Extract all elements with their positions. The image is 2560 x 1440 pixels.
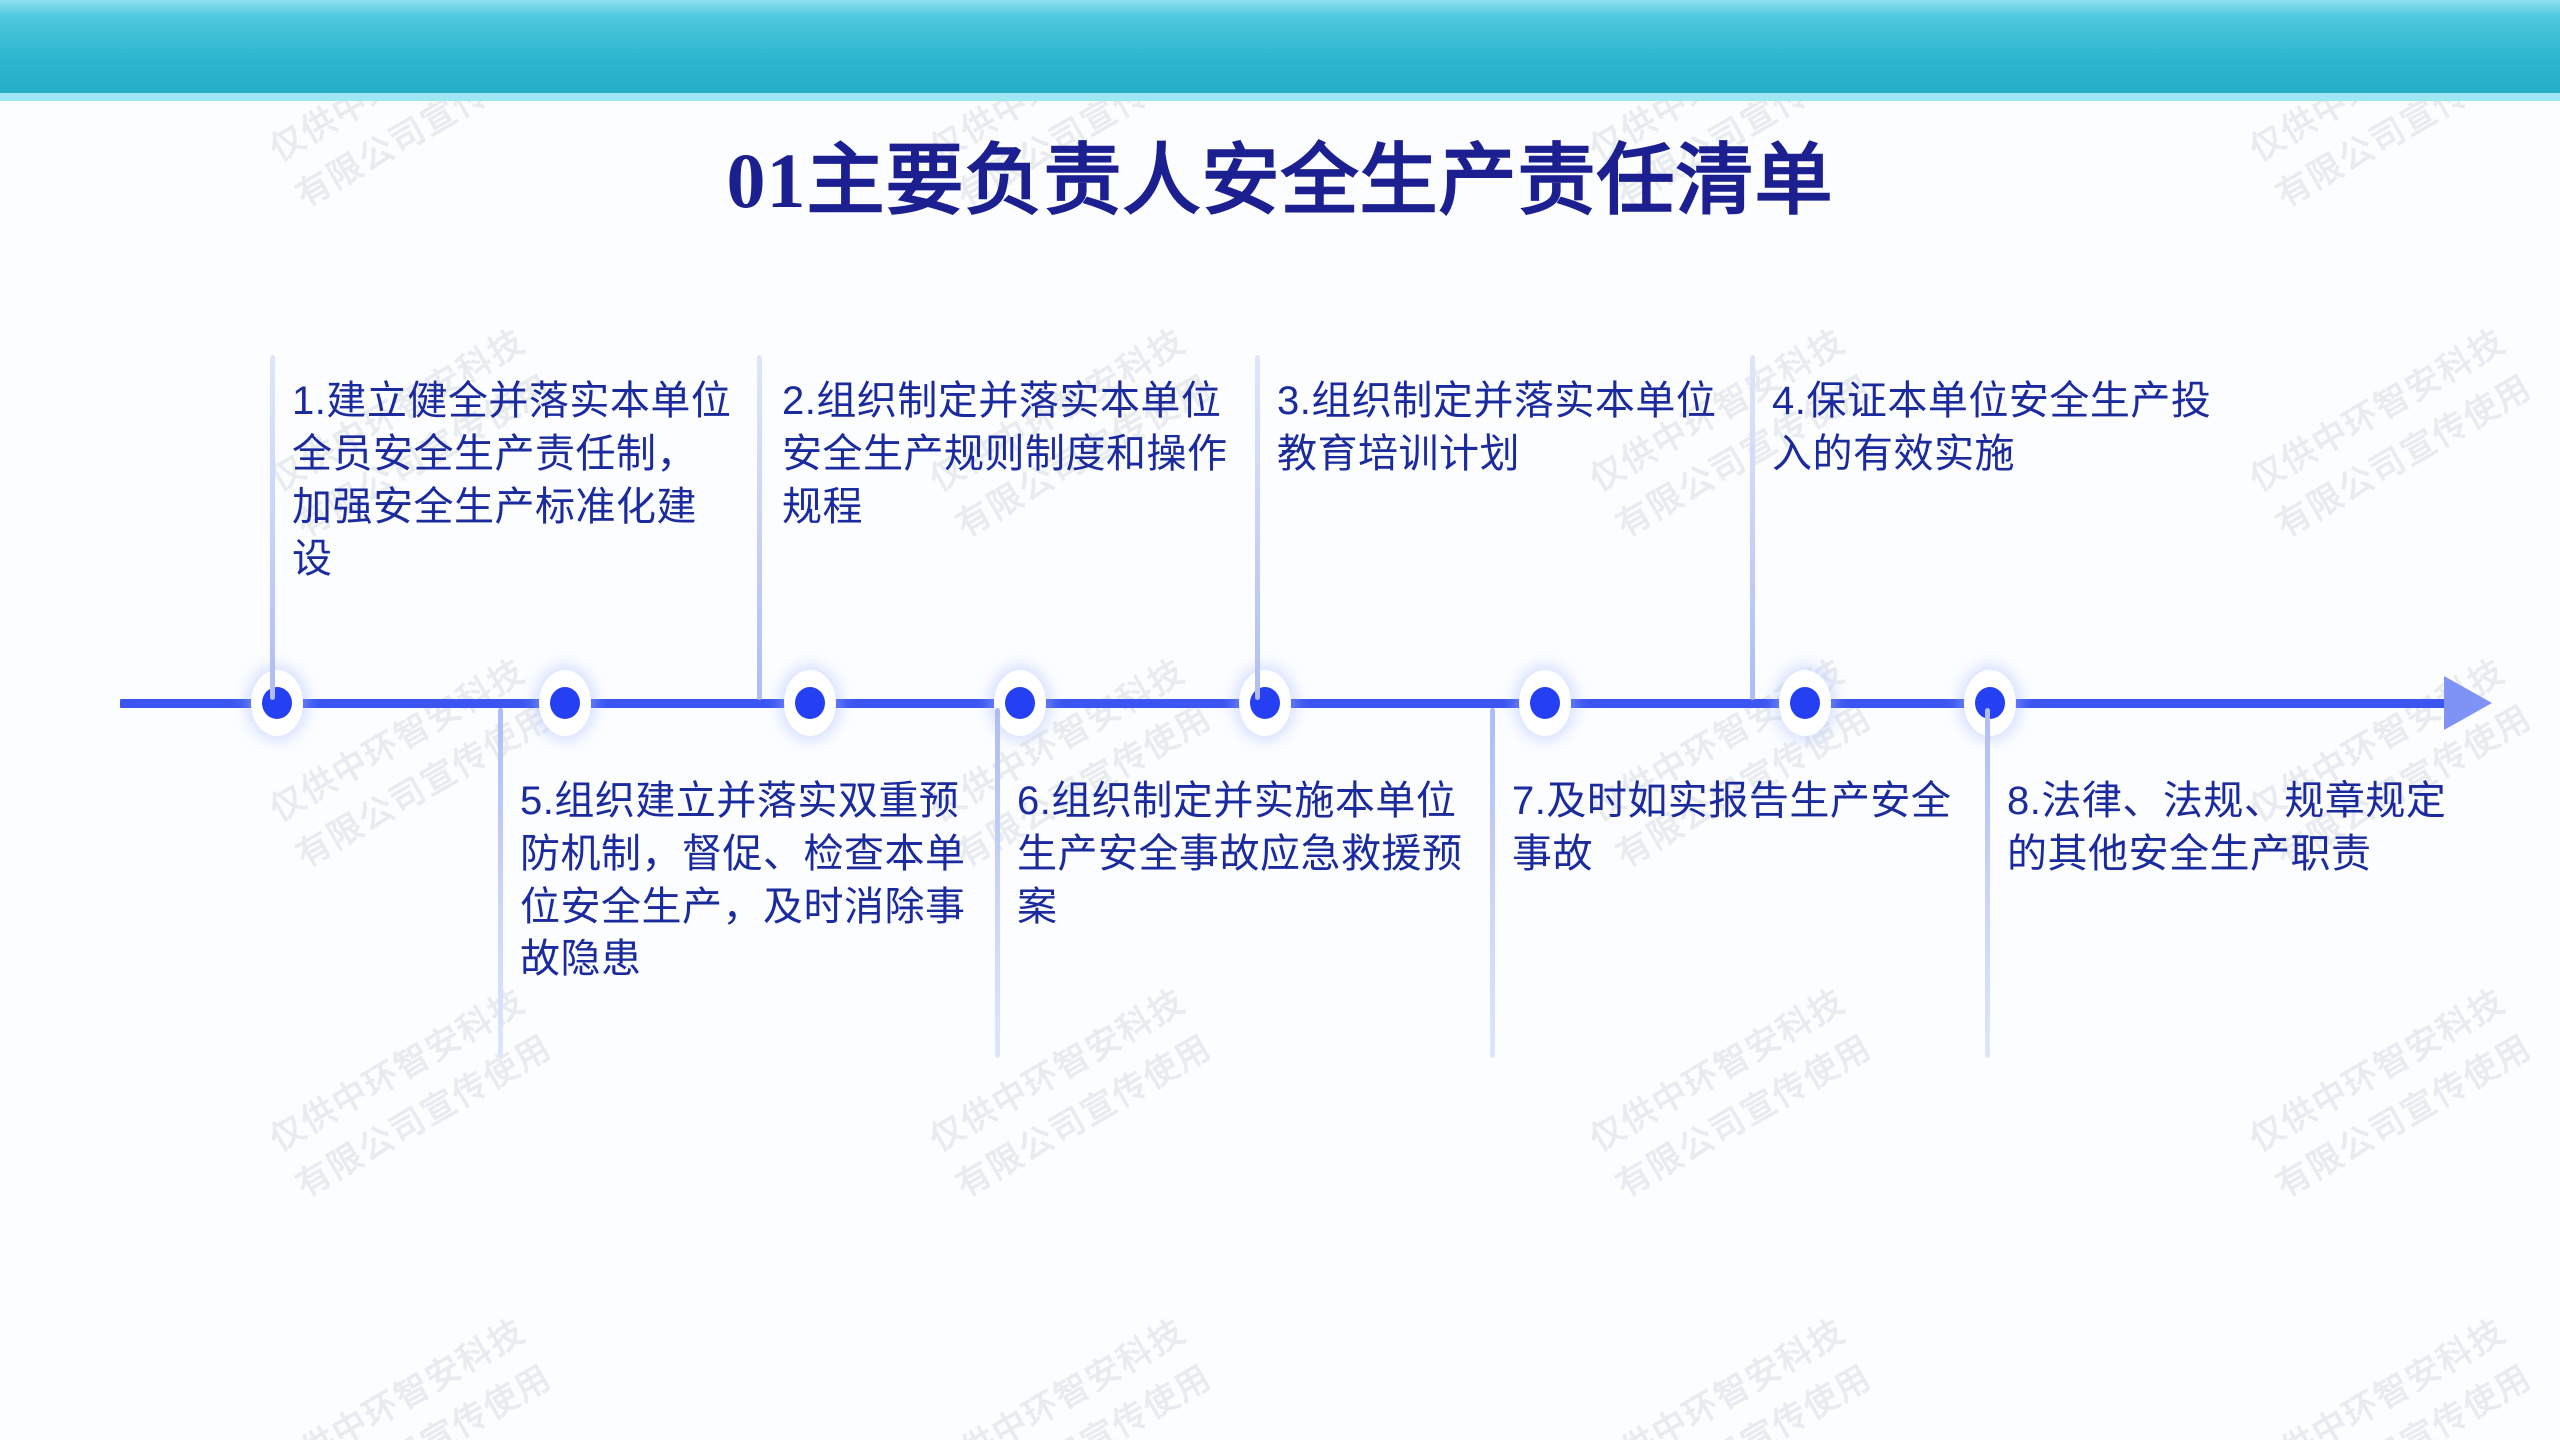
- timeline-item-8-text: 8.法律、法规、规章规定的其他安全生产职责: [2007, 775, 2457, 881]
- timeline-node-2[interactable]: [539, 670, 591, 736]
- timeline-item-7-text: 7.及时如实报告生产安全事故: [1512, 775, 1962, 881]
- timeline-node-7[interactable]: [1779, 670, 1831, 736]
- timeline-node-4[interactable]: [994, 670, 1046, 736]
- timeline-node-1[interactable]: [251, 670, 303, 736]
- divider-item-4: [1750, 355, 1755, 700]
- divider-item-2: [757, 355, 762, 700]
- timeline-node-8[interactable]: [1964, 670, 2016, 736]
- timeline-item-5-text: 5.组织建立并落实双重预防机制，督促、检查本单位安全生产，及时消除事故隐患: [520, 775, 970, 986]
- divider-item-7: [1490, 708, 1495, 1058]
- timeline-node-5[interactable]: [1239, 670, 1291, 736]
- divider-item-5: [498, 708, 503, 1058]
- timeline-diagram: 1.建立健全并落实本单位全员安全生产责任制，加强安全生产标准化建设 2.组织制定…: [0, 0, 2560, 1440]
- divider-item-6: [995, 708, 1000, 1058]
- timeline-node-3[interactable]: [784, 670, 836, 736]
- divider-item-1: [270, 355, 275, 700]
- header-bar: [0, 0, 2560, 93]
- timeline-item-6-text: 6.组织制定并实施本单位生产安全事故应急救援预案: [1017, 775, 1467, 933]
- timeline-arrow-icon: [2444, 676, 2492, 730]
- divider-item-8: [1985, 708, 1990, 1058]
- timeline-node-6[interactable]: [1519, 670, 1571, 736]
- divider-item-3: [1255, 355, 1260, 700]
- timeline-item-3-text: 3.组织制定并落实本单位教育培训计划: [1277, 375, 1727, 481]
- timeline-item-2-text: 2.组织制定并落实本单位安全生产规则制度和操作规程: [782, 375, 1237, 533]
- timeline-item-1-text: 1.建立健全并落实本单位全员安全生产责任制，加强安全生产标准化建设: [292, 375, 732, 586]
- timeline-item-4-text: 4.保证本单位安全生产投入的有效实施: [1772, 375, 2222, 481]
- header-underline: [0, 93, 2560, 101]
